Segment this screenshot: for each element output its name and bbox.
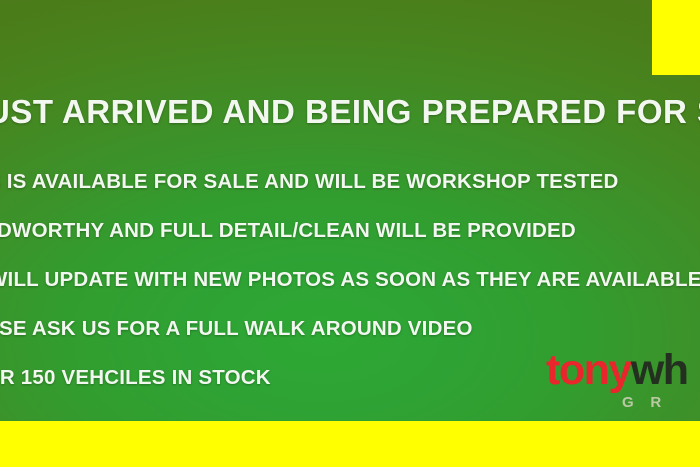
banner-body-line-1: S IS AVAILABLE FOR SALE AND WILL BE WORK… bbox=[0, 170, 619, 194]
banner-body-line-3: WILL UPDATE WITH NEW PHOTOS AS SOON AS T… bbox=[0, 268, 700, 292]
banner-body-line-5: ER 150 VEHCILES IN STOCK bbox=[0, 366, 271, 390]
banner-body-line-4: ASE ASK US FOR A FULL WALK AROUND VIDEO bbox=[0, 317, 473, 341]
dealer-logo: tonywh G R bbox=[546, 349, 687, 410]
banner-headline: UST ARRIVED AND BEING PREPARED FOR SA bbox=[0, 93, 700, 131]
logo-subtitle: G R bbox=[622, 395, 687, 410]
logo-wordmark: tonywh bbox=[546, 346, 687, 394]
logo-brand-primary: tony bbox=[546, 346, 631, 394]
logo-brand-secondary: wh bbox=[631, 346, 688, 394]
banner-body-line-2: ADWORTHY AND FULL DETAIL/CLEAN WILL BE P… bbox=[0, 219, 576, 243]
yellow-bar-bottom bbox=[0, 421, 700, 467]
vehicle-listing-banner: UST ARRIVED AND BEING PREPARED FOR SA S … bbox=[0, 0, 700, 467]
